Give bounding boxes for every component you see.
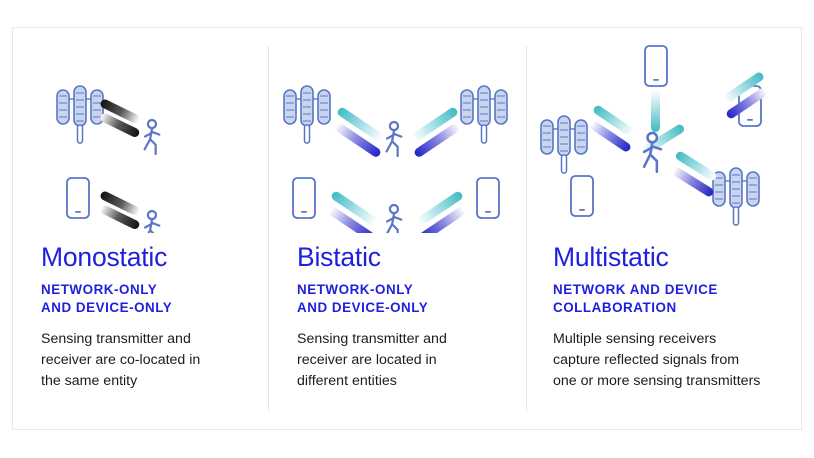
signal-beam-pair-left-row1 bbox=[334, 106, 384, 159]
signal-beam-pair-left-row2 bbox=[328, 190, 378, 233]
base-station-icon bbox=[57, 86, 103, 143]
multistatic-text: Multistatic NETWORK AND DEVICE COLLABORA… bbox=[553, 242, 793, 392]
panel-title: Monostatic bbox=[41, 242, 254, 272]
smartphone-icon bbox=[293, 178, 315, 218]
smartphone-icon bbox=[645, 46, 667, 86]
pedestrian-icon bbox=[145, 211, 160, 233]
smartphone-icon bbox=[477, 178, 499, 218]
signal-beam-pair-right-row1 bbox=[411, 106, 461, 159]
signal-beam-pair-upper-left bbox=[589, 104, 635, 153]
panel-subtitle: NETWORK-ONLY AND DEVICE-ONLY bbox=[297, 281, 512, 316]
sensing-topologies-figure: Monostatic NETWORK-ONLY AND DEVICE-ONLY … bbox=[12, 27, 802, 430]
panel-multistatic: Multistatic NETWORK AND DEVICE COLLABORA… bbox=[527, 28, 803, 429]
bistatic-text: Bistatic NETWORK-ONLY AND DEVICE-ONLY Se… bbox=[297, 242, 512, 392]
panel-row: Monostatic NETWORK-ONLY AND DEVICE-ONLY … bbox=[13, 28, 801, 429]
signal-beam-pair-right-row2 bbox=[416, 190, 466, 233]
panel-title: Bistatic bbox=[297, 242, 512, 272]
panel-body: Multiple sensing receivers capture refle… bbox=[553, 329, 793, 392]
base-station-icon bbox=[461, 86, 507, 143]
base-station-icon bbox=[284, 86, 330, 143]
panel-subtitle: NETWORK-ONLY AND DEVICE-ONLY bbox=[41, 281, 254, 316]
panel-bistatic: Bistatic NETWORK-ONLY AND DEVICE-ONLY Se… bbox=[269, 28, 526, 429]
base-station-icon bbox=[541, 116, 587, 173]
monostatic-text: Monostatic NETWORK-ONLY AND DEVICE-ONLY … bbox=[41, 242, 254, 392]
panel-body: Sensing transmitter and receiver are loc… bbox=[297, 329, 512, 392]
pedestrian-icon bbox=[387, 122, 402, 156]
panel-body: Sensing transmitter and receiver are co-… bbox=[41, 329, 254, 392]
signal-beam-pair-row1 bbox=[99, 98, 141, 139]
panel-title: Multistatic bbox=[553, 242, 793, 272]
bistatic-illustration bbox=[269, 28, 526, 233]
panel-monostatic: Monostatic NETWORK-ONLY AND DEVICE-ONLY … bbox=[13, 28, 268, 429]
signal-beam-top bbox=[651, 90, 660, 132]
monostatic-illustration bbox=[13, 28, 268, 233]
base-station-icon bbox=[713, 168, 759, 225]
pedestrian-icon bbox=[145, 120, 160, 154]
smartphone-icon bbox=[67, 178, 89, 218]
smartphone-icon bbox=[571, 176, 593, 216]
panel-subtitle: NETWORK AND DEVICE COLLABORATION bbox=[553, 281, 793, 316]
signal-beam-pair-lower-right bbox=[671, 150, 718, 198]
pedestrian-icon bbox=[387, 205, 402, 233]
signal-beam-pair-row2 bbox=[99, 190, 141, 231]
multistatic-illustration bbox=[527, 28, 803, 233]
